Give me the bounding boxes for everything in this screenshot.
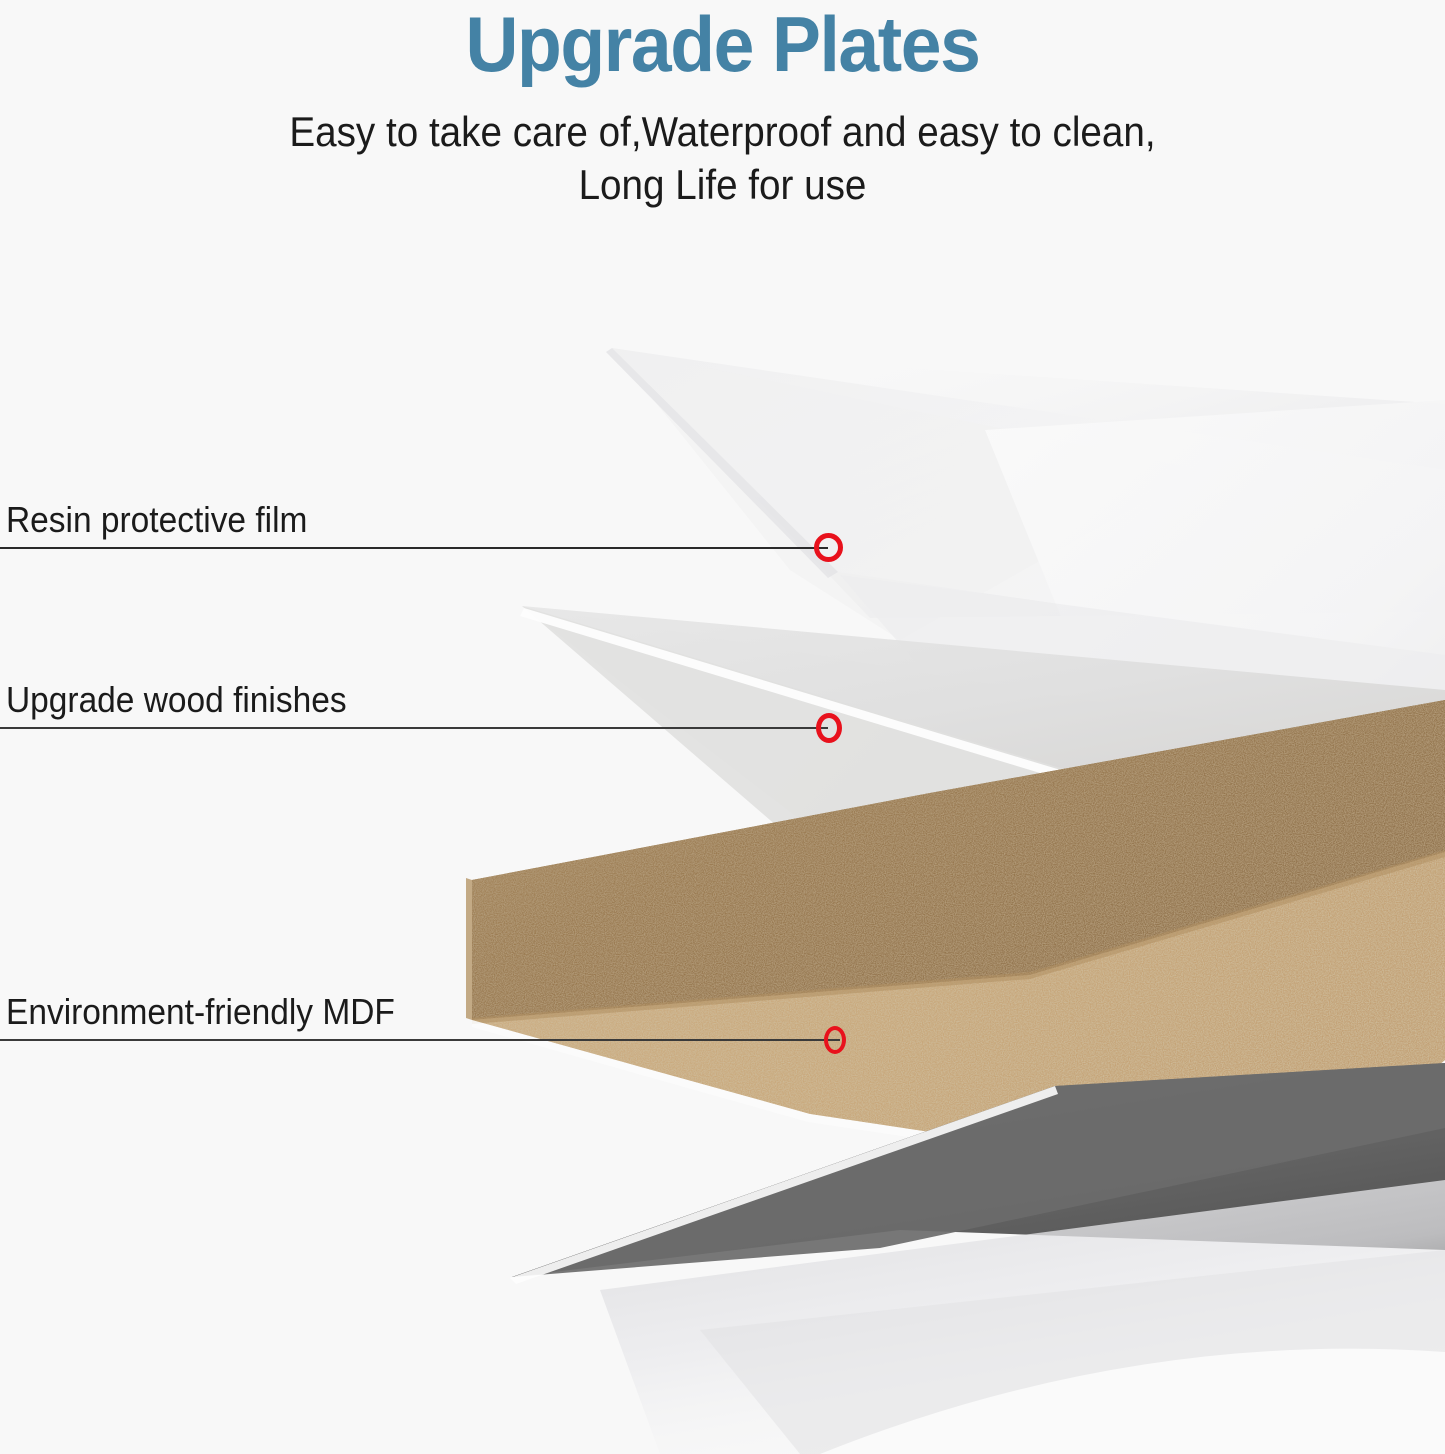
callout-label-resin-protective-film: Resin protective film (6, 499, 307, 541)
callout-label-environment-friendly-mdf: Environment-friendly MDF (6, 991, 395, 1033)
red-ring-marker-icon (814, 533, 843, 562)
red-ring-marker-icon (824, 1026, 846, 1054)
page-subtitle-line-1: Easy to take care of,Waterproof and easy… (58, 106, 1387, 159)
callout-leader-line (0, 727, 828, 729)
page-title: Upgrade Plates (43, 0, 1401, 86)
page-subtitle: Easy to take care of,Waterproof and easy… (58, 86, 1387, 212)
callout-leader-line (0, 1039, 840, 1041)
callout-label-upgrade-wood-finishes: Upgrade wood finishes (6, 679, 347, 721)
header: Upgrade Plates Easy to take care of,Wate… (0, 0, 1445, 212)
page-subtitle-line-2: Long Life for use (58, 159, 1387, 212)
product-infographic: Upgrade Plates Easy to take care of,Wate… (0, 0, 1445, 1454)
callout-leader-line (0, 547, 828, 549)
red-ring-marker-icon (816, 713, 842, 743)
